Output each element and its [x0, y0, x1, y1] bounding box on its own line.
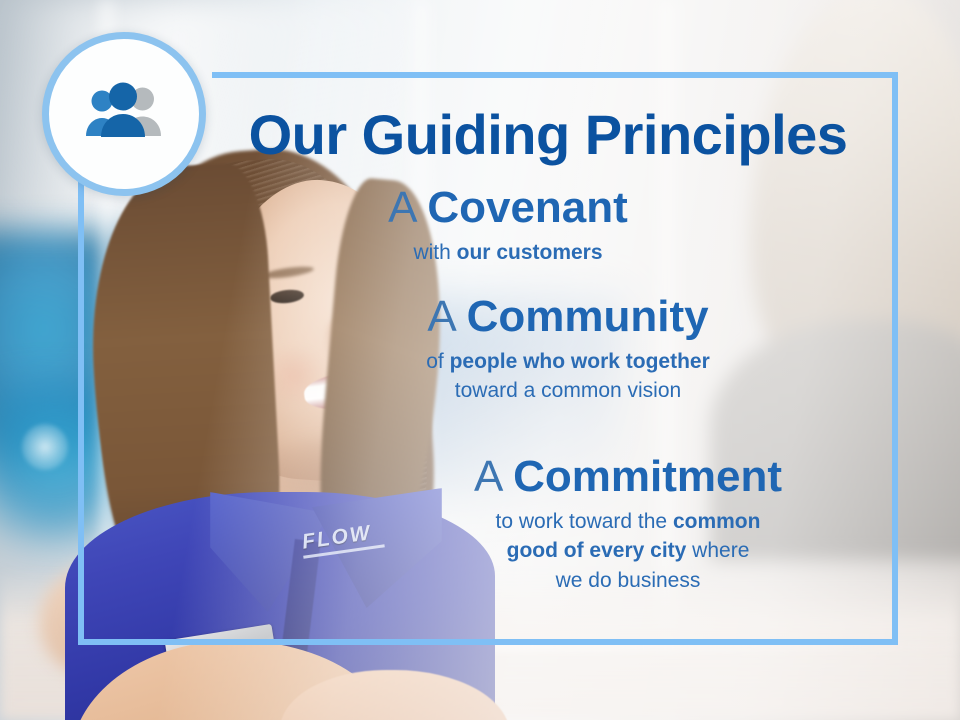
principle-commitment-line-3: we do business: [378, 566, 878, 596]
background-vehicle-emblem: [22, 424, 68, 470]
principle-community-heading: A Community: [318, 294, 818, 341]
principle-community-line-2: toward a common vision: [318, 376, 818, 406]
commitment-l1-s1: to work toward the: [496, 510, 673, 533]
commitment-l2-s2: where: [686, 539, 749, 562]
community-l1-s2: people who work together: [450, 350, 710, 373]
principle-commitment-line-1: to work toward the common: [378, 507, 878, 537]
text-content: Our Guiding Principles A Covenant with o…: [78, 72, 898, 645]
principle-covenant-line-1: with our customers: [268, 238, 748, 268]
principle-covenant-article: A: [388, 183, 427, 232]
commitment-l3-s1: we do business: [556, 569, 701, 592]
principle-community: A Community of people who work together …: [318, 294, 818, 406]
principle-community-keyword: Community: [467, 292, 709, 341]
principle-covenant: A Covenant with our customers: [268, 185, 748, 267]
principle-commitment-article: A: [474, 452, 513, 501]
principle-commitment: A Commitment to work toward the common g…: [378, 454, 878, 596]
principle-covenant-heading: A Covenant: [268, 185, 748, 232]
covenant-l1-s2: our customers: [457, 241, 603, 264]
community-l1-s1: of: [426, 350, 449, 373]
community-l2-s1: toward a common vision: [455, 379, 681, 402]
principle-commitment-heading: A Commitment: [378, 454, 878, 501]
principle-covenant-keyword: Covenant: [427, 183, 627, 232]
commitment-l1-s2: common: [673, 510, 761, 533]
principle-community-article: A: [427, 292, 466, 341]
commitment-l2-s1: good of every city: [507, 539, 687, 562]
guiding-principles-graphic: FLOW FLOW AUTOMOTIVE: [0, 0, 960, 720]
principle-community-line-1: of people who work together: [318, 347, 818, 377]
principle-commitment-line-2: good of every city where: [378, 536, 878, 566]
page-title: Our Guiding Principles: [218, 102, 878, 167]
covenant-l1-s1: with: [413, 241, 456, 264]
principle-commitment-keyword: Commitment: [513, 452, 782, 501]
